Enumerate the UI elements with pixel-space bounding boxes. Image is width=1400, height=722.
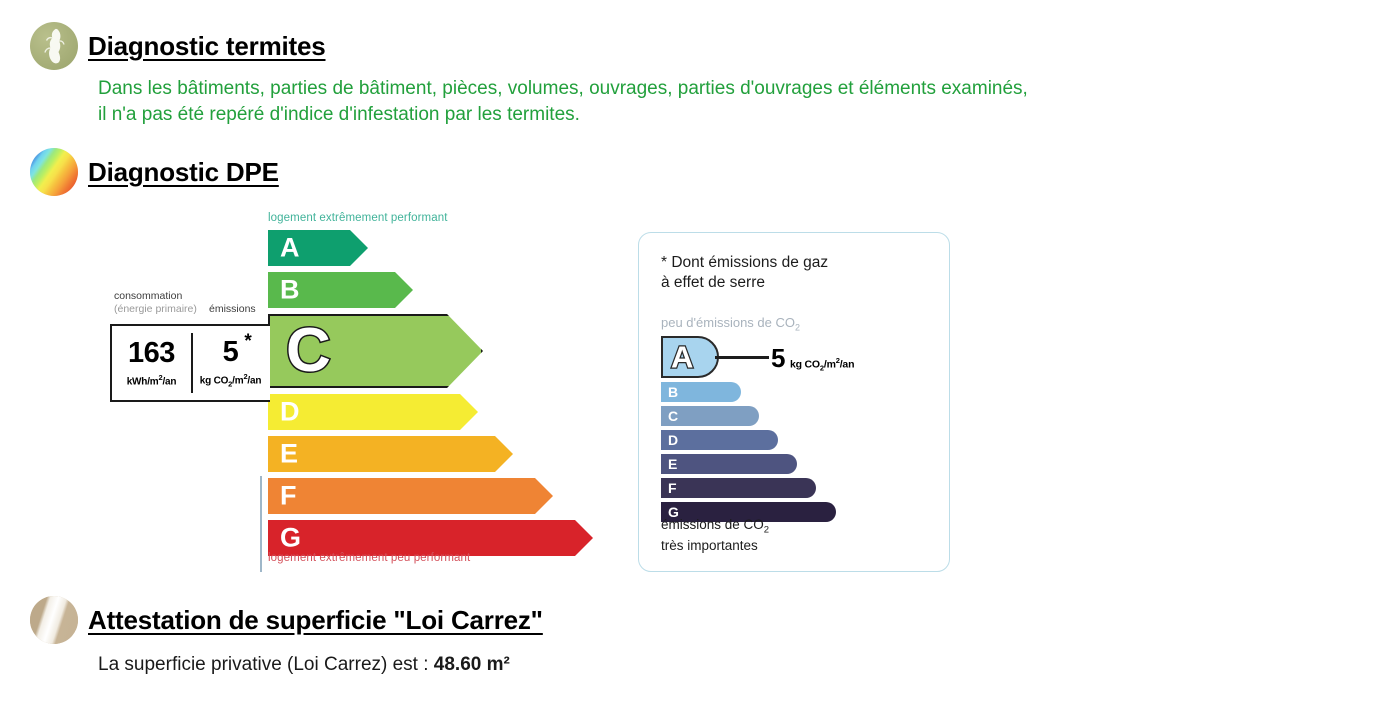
co2-bar-letter-f: F bbox=[668, 481, 677, 495]
energy-bar-shape-e bbox=[268, 436, 513, 472]
co2-bar-shape-e bbox=[661, 454, 797, 474]
co2-value-group: 5 kg CO2/m2/an bbox=[771, 343, 854, 374]
dpe-diagram: logement extrêmement performant consomma… bbox=[100, 212, 970, 582]
co2-bar-d: D bbox=[661, 430, 778, 450]
energy-bar-letter-c: C bbox=[286, 320, 331, 382]
section-title-dpe: Diagnostic DPE bbox=[88, 157, 279, 188]
co2-scale-panel: * Dont émissions de gaz à effet de serre… bbox=[638, 232, 950, 572]
energy-bar-letter-d: D bbox=[280, 399, 300, 426]
co2-bar-b: B bbox=[661, 382, 741, 402]
rainbow-dpe-icon bbox=[30, 148, 78, 196]
co2-bar-shape-f bbox=[661, 478, 816, 498]
surface-carrez-icon bbox=[30, 596, 78, 644]
energy-bar-a: A bbox=[268, 230, 368, 266]
energy-bar-list: ABCDEFG bbox=[268, 230, 593, 562]
emissions-asterisk: * bbox=[244, 332, 251, 351]
energy-bar-f: F bbox=[268, 478, 553, 514]
termites-body-line1: Dans les bâtiments, parties de bâtiment,… bbox=[98, 76, 1028, 102]
energy-bar-shape-g bbox=[268, 520, 593, 556]
section-title-termites: Diagnostic termites bbox=[88, 31, 326, 62]
energy-bar-d: D bbox=[268, 394, 478, 430]
energy-bar-letter-e: E bbox=[280, 441, 298, 468]
co2-note-line1: * Dont émissions de gaz bbox=[661, 253, 828, 273]
consumption-unit: kWh/m2/an bbox=[127, 373, 177, 387]
termites-body: Dans les bâtiments, parties de bâtiment,… bbox=[98, 76, 1028, 127]
co2-top-caption: peu d'émissions de CO2 bbox=[661, 315, 800, 333]
co2-bar-letter-e: E bbox=[668, 457, 677, 471]
co2-bar-letter-d: D bbox=[668, 433, 678, 447]
emissions-unit: kg CO2/m2/an bbox=[200, 372, 262, 388]
label-energie-primaire: (énergie primaire) bbox=[114, 303, 197, 315]
co2-bar-shape-d bbox=[661, 430, 778, 450]
co2-bar-a: A bbox=[661, 336, 719, 378]
co2-bar-c: C bbox=[661, 406, 759, 426]
label-consommation: consommation bbox=[114, 290, 182, 302]
energy-bar-e: E bbox=[268, 436, 513, 472]
co2-bar-letter-c: C bbox=[668, 409, 678, 423]
co2-value-unit: kg CO2/m2/an bbox=[790, 356, 854, 373]
co2-bottom-caption: émissions de CO2 très importantes bbox=[661, 516, 769, 555]
co2-bar-letter-b: B bbox=[668, 385, 678, 399]
carrez-body: La superficie privative (Loi Carrez) est… bbox=[98, 654, 543, 676]
energy-bar-letter-b: B bbox=[280, 277, 300, 304]
energy-bar-shape-f bbox=[268, 478, 553, 514]
scale-rail bbox=[260, 476, 262, 572]
energy-bar-g: G bbox=[268, 520, 593, 556]
co2-bottom-line2: très importantes bbox=[661, 537, 769, 555]
consumption-cell: 163 kWh/m2/an bbox=[112, 326, 191, 400]
co2-value: 5 bbox=[771, 343, 785, 374]
section-title-carrez: Attestation de superficie "Loi Carrez" bbox=[88, 605, 543, 636]
co2-bar-f: F bbox=[661, 478, 816, 498]
section-diagnostic-dpe: Diagnostic DPE bbox=[30, 148, 279, 196]
energy-scale-panel: logement extrêmement performant consomma… bbox=[100, 212, 620, 582]
consumption-value: 163 bbox=[128, 339, 175, 368]
energy-bottom-caption: logement extrêmement peu performant bbox=[268, 552, 470, 564]
section-attestation-carrez: Attestation de superficie "Loi Carrez" L… bbox=[30, 596, 543, 676]
dpe-header: Diagnostic DPE bbox=[30, 148, 279, 196]
energy-bar-c: C bbox=[268, 314, 483, 388]
section-diagnostic-termites: Diagnostic termites Dans les bâtiments, … bbox=[30, 22, 1028, 127]
termites-body-line2: il n'a pas été repéré d'indice d'infesta… bbox=[98, 102, 1028, 128]
co2-bottom-line1: émissions de CO2 bbox=[661, 516, 769, 537]
energy-top-caption: logement extrêmement performant bbox=[268, 212, 448, 224]
emissions-value: 5* bbox=[223, 338, 239, 367]
emissions-cell: 5* kg CO2/m2/an bbox=[191, 326, 270, 400]
termite-icon bbox=[30, 22, 78, 70]
energy-bar-shape-d bbox=[268, 394, 478, 430]
label-emissions: émissions bbox=[209, 303, 256, 315]
co2-note-line2: à effet de serre bbox=[661, 273, 828, 293]
carrez-header: Attestation de superficie "Loi Carrez" bbox=[30, 596, 543, 644]
carrez-body-prefix: La superficie privative (Loi Carrez) est… bbox=[98, 654, 434, 675]
energy-bar-letter-g: G bbox=[280, 525, 301, 552]
carrez-surface-value: 48.60 m² bbox=[434, 654, 510, 675]
co2-leader-line bbox=[715, 356, 769, 359]
co2-bar-e: E bbox=[661, 454, 797, 474]
co2-bar-letter-a: A bbox=[671, 342, 693, 373]
energy-bar-letter-f: F bbox=[280, 483, 297, 510]
energy-value-box: 163 kWh/m2/an 5* kg CO2/m2/an bbox=[110, 324, 270, 402]
co2-note: * Dont émissions de gaz à effet de serre bbox=[661, 253, 828, 294]
termites-header: Diagnostic termites bbox=[30, 22, 1028, 70]
energy-bar-letter-a: A bbox=[280, 235, 300, 262]
energy-bar-b: B bbox=[268, 272, 413, 308]
